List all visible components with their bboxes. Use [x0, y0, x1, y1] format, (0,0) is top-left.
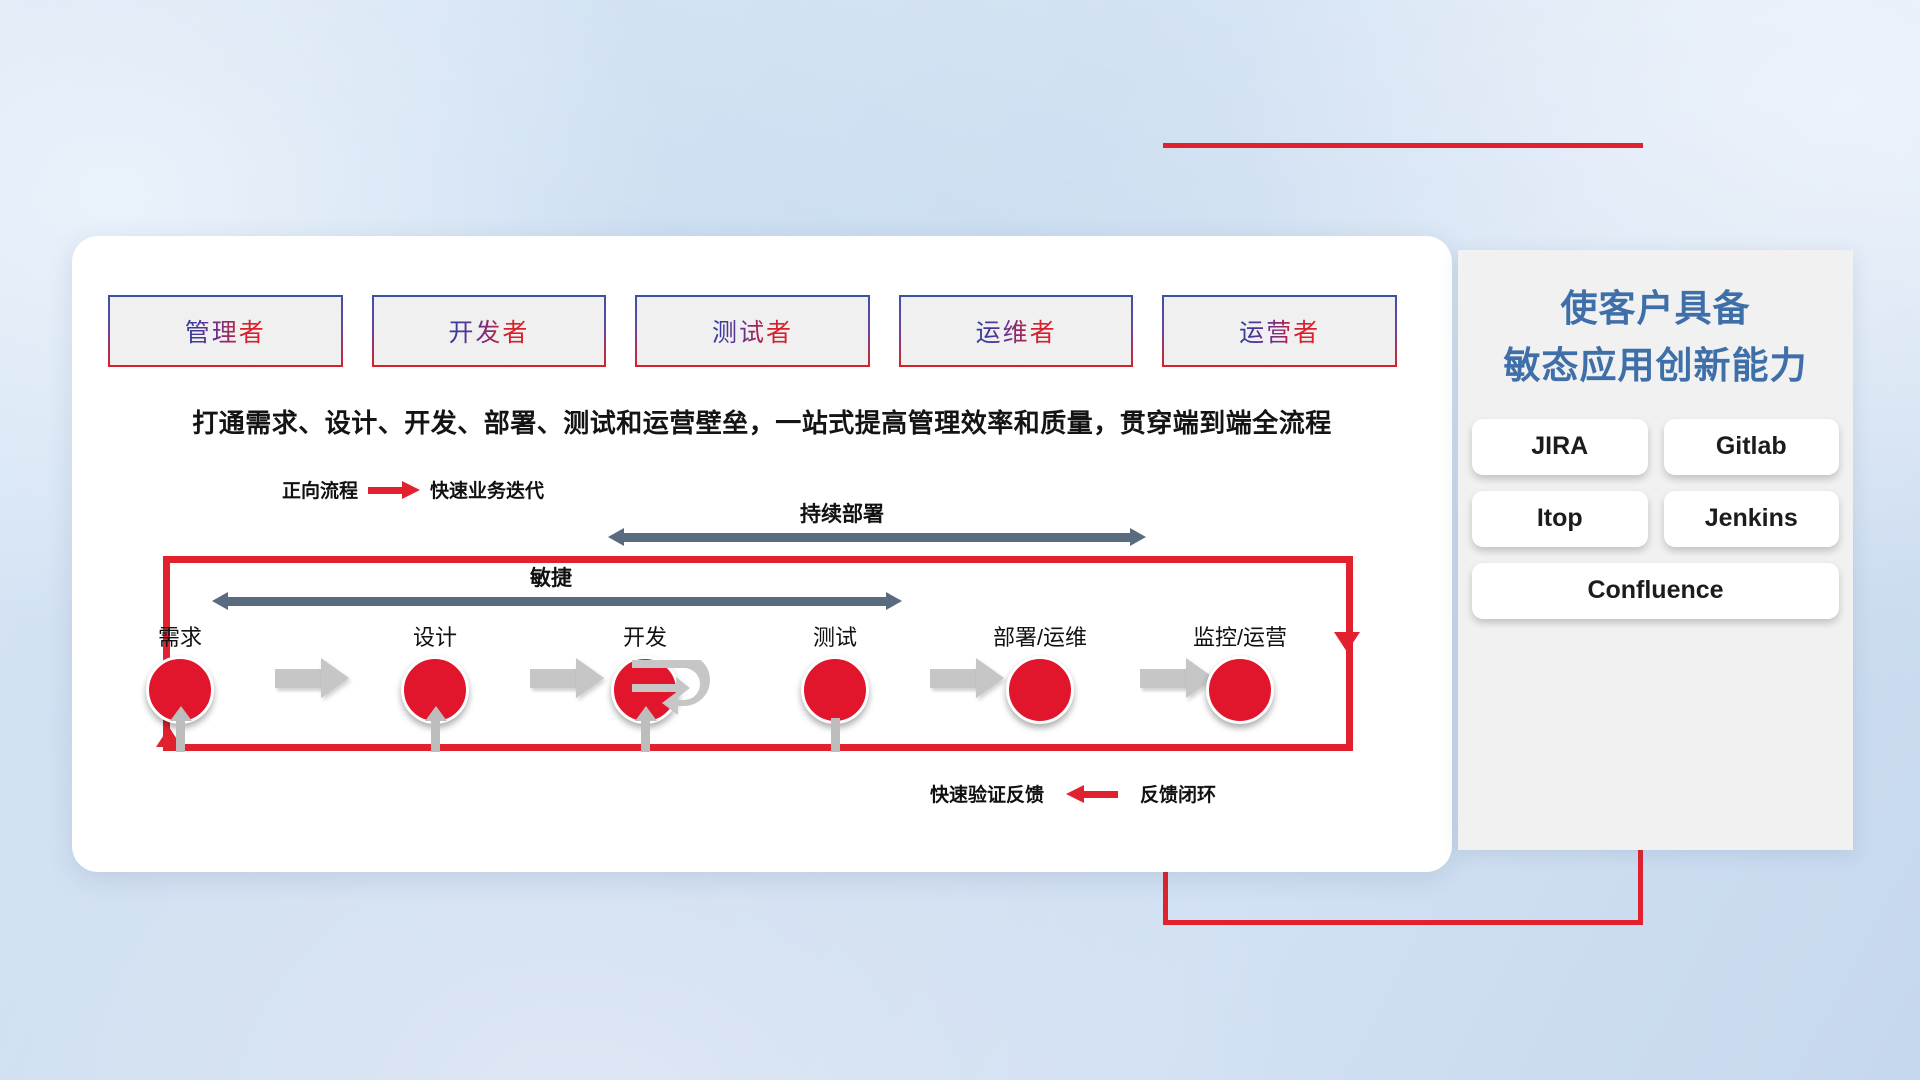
stage-label: 需求: [110, 620, 250, 652]
stage-label: 设计: [365, 620, 505, 652]
forward-flow-legend: 正向流程 快速业务迭代: [282, 476, 544, 503]
pipeline-stage-monitor-operations[interactable]: 监控/运营: [1140, 620, 1340, 724]
headline-text: 打通需求、设计、开发、部署、测试和运营壁垒，一站式提高管理效率和质量，贯穿端到端…: [72, 403, 1452, 440]
panel-title-line2: 敏态应用创新能力: [1468, 337, 1843, 394]
tool-chip-gitlab[interactable]: Gitlab: [1664, 419, 1840, 475]
stage-label: 监控/运营: [1140, 620, 1340, 652]
forward-flow-label: 正向流程: [282, 476, 358, 503]
fast-iteration-label: 快速业务迭代: [430, 476, 544, 503]
feed-stub-head-icon: [170, 706, 192, 721]
role-label: 开发者: [448, 313, 529, 349]
role-box-operations[interactable]: 运营者: [1164, 297, 1395, 365]
rework-loop-icon: [630, 660, 720, 722]
continuous-deploy-label: 持续部署: [800, 498, 884, 528]
role-box-tester[interactable]: 测试者: [637, 297, 868, 365]
stage-dot: [801, 656, 869, 724]
feed-stub: [176, 718, 185, 752]
role-label: 测试者: [712, 313, 793, 349]
stage-dot: [1206, 656, 1274, 724]
pipeline: 需求 设计 开发 测试 部署/运维 监控/运营: [110, 620, 1420, 740]
continuous-deploy-double-arrow-icon: [608, 528, 1146, 546]
tool-chip-confluence[interactable]: Confluence: [1472, 563, 1839, 619]
tool-chip-jira[interactable]: JIRA: [1472, 419, 1648, 475]
right-panel: 使客户具备 敏态应用创新能力 JIRA Gitlab Itop Jenkins …: [1458, 250, 1853, 850]
red-arrow-left-icon: [1066, 788, 1118, 800]
fast-validation-label: 快速验证反馈: [930, 780, 1044, 807]
feedback-legend: 快速验证反馈 反馈闭环: [930, 780, 1216, 807]
tool-chip-itop[interactable]: Itop: [1472, 491, 1648, 547]
role-label: 管理者: [185, 313, 266, 349]
panel-title: 使客户具备 敏态应用创新能力: [1458, 250, 1853, 395]
pipeline-stage-deploy-ops[interactable]: 部署/运维: [940, 620, 1140, 724]
feed-stub: [431, 718, 440, 752]
role-label: 运维者: [976, 313, 1057, 349]
feed-stub: [831, 718, 840, 752]
feed-stub-head-icon: [425, 706, 447, 721]
red-connector-frame-top: [1163, 143, 1643, 148]
tool-chip-list: JIRA Gitlab Itop Jenkins Confluence: [1472, 419, 1839, 619]
feed-stub: [641, 718, 650, 752]
role-box-list: 管理者 开发者 测试者 运维者 运营者: [110, 297, 1395, 365]
stage-dot: [1006, 656, 1074, 724]
role-box-developer[interactable]: 开发者: [374, 297, 605, 365]
role-box-manager[interactable]: 管理者: [110, 297, 341, 365]
pipeline-stage-test[interactable]: 测试: [765, 620, 905, 724]
red-arrow-right-icon: [368, 484, 420, 496]
stage-label: 测试: [765, 620, 905, 652]
gray-arrow-icon: [275, 658, 349, 698]
stage-label: 部署/运维: [940, 620, 1140, 652]
panel-title-line1: 使客户具备: [1468, 280, 1843, 337]
role-label: 运营者: [1239, 313, 1320, 349]
stage-label: 开发: [575, 620, 715, 652]
feedback-loop-label: 反馈闭环: [1140, 780, 1216, 807]
role-box-ops[interactable]: 运维者: [901, 297, 1132, 365]
tool-chip-jenkins[interactable]: Jenkins: [1664, 491, 1840, 547]
